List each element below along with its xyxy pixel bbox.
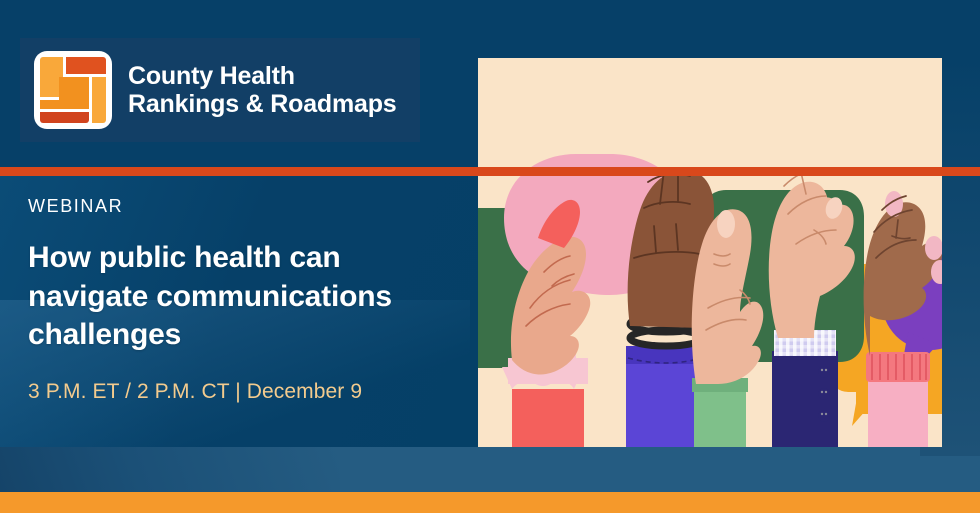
logo-tile-right-column (92, 77, 106, 123)
raised-hands-with-speech-bubbles-illustration (478, 58, 942, 447)
logo-tile-top-right (66, 57, 106, 74)
background-lower-band (0, 447, 980, 492)
county-health-rankings-mosaic-logo-icon (34, 51, 112, 129)
webinar-promo-banner: County Health Rankings & Roadmaps WEBINA… (0, 0, 980, 513)
eyebrow-label: WEBINAR (28, 196, 458, 217)
bottom-orange-bar (0, 492, 980, 513)
page-title: How public health can navigate communica… (28, 239, 458, 355)
brand-logo-lockup[interactable]: County Health Rankings & Roadmaps (20, 38, 420, 142)
background-lower-band-shade (0, 447, 340, 492)
promo-copy-block: WEBINAR How public health can navigate c… (28, 196, 458, 404)
brand-name-line-1: County Health (128, 62, 396, 90)
logo-tile-center (59, 77, 89, 109)
top-orange-divider (0, 167, 980, 176)
brand-name-line-2: Rankings & Roadmaps (128, 90, 396, 118)
brand-wordmark: County Health Rankings & Roadmaps (128, 62, 396, 119)
event-datetime: 3 P.M. ET / 2 P.M. CT | December 9 (28, 379, 458, 404)
logo-tile-bottom (40, 112, 89, 123)
